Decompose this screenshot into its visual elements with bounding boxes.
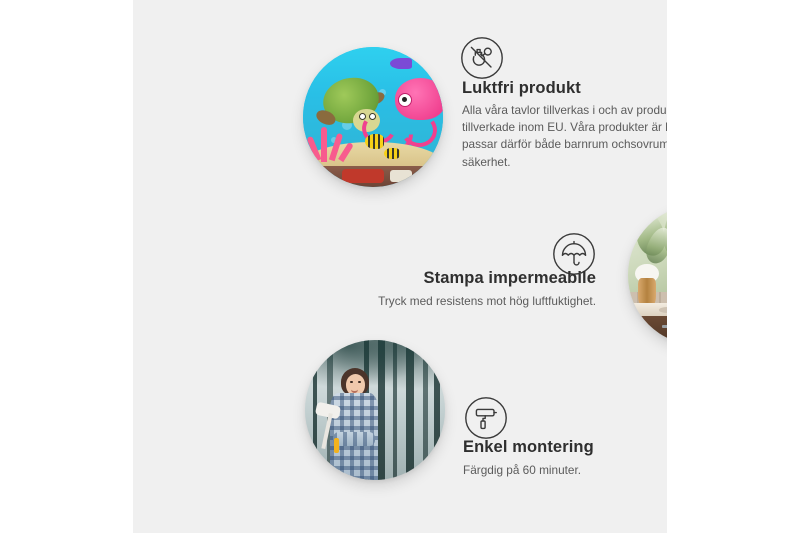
feature-description: Alla våra tavlor tillverkas i och av pro… xyxy=(462,102,667,171)
forest-canopy xyxy=(305,340,445,396)
feature-title: Enkel montering xyxy=(463,437,667,458)
woman-eye xyxy=(350,381,353,383)
seabed-strip xyxy=(303,166,443,187)
content-panel: Luktfri produkt Alla våra tavlor tillver… xyxy=(133,0,667,533)
cabinet-handle xyxy=(662,325,667,328)
product-features-infographic: Luktfri produkt Alla våra tavlor tillver… xyxy=(0,0,800,533)
woman-crossed-arms xyxy=(333,432,375,446)
paint-roller-icon xyxy=(464,396,508,440)
woman-eye xyxy=(358,381,361,383)
yellow-fish-icon xyxy=(365,134,385,149)
bathroom-vanity-circle xyxy=(628,205,667,345)
woman-paint-roller-forest-circle xyxy=(305,340,445,480)
feature-text-easy-mounting: Enkel montering Färgdig på 60 minuter. xyxy=(463,437,667,479)
underwater-kids-mural-circle xyxy=(303,47,443,187)
pink-coral xyxy=(309,125,351,161)
no-perfume-icon xyxy=(460,36,504,80)
paint-roller-grip xyxy=(334,438,339,453)
soap-dish xyxy=(659,307,667,313)
wood-cabinet xyxy=(634,316,667,345)
feature-text-waterproof: Stampa impermeabile Tryck med resistens … xyxy=(315,268,596,310)
yellow-fish-icon xyxy=(384,148,399,159)
feature-text-odour-free: Luktfri produkt Alla våra tavlor tillver… xyxy=(462,78,667,171)
feature-title: Luktfri produkt xyxy=(462,78,667,99)
feature-description: Färgdig på 60 minuter. xyxy=(463,462,667,479)
blue-fish-icon xyxy=(390,58,412,69)
feature-title: Stampa impermeabile xyxy=(315,268,596,289)
feature-description: Tryck med resistens mot hög luftfuktighe… xyxy=(315,293,596,310)
